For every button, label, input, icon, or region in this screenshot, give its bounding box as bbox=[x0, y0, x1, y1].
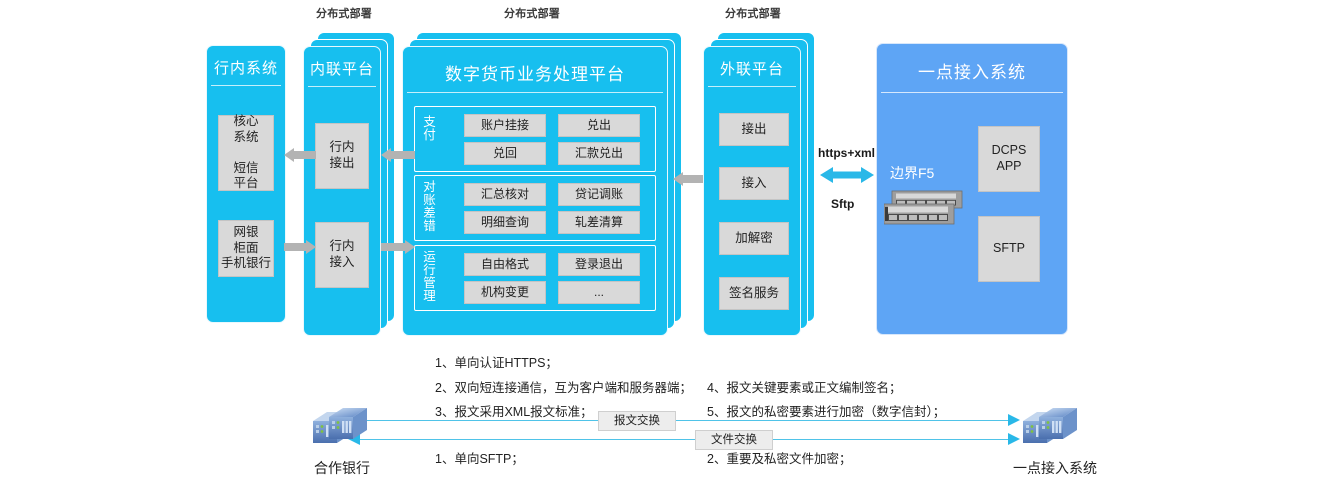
box-exchange-out[interactable]: 兑出 bbox=[558, 114, 640, 137]
box-remittance-out[interactable]: 汇款兑出 bbox=[558, 142, 640, 165]
box-org-change[interactable]: 机构变更 bbox=[464, 281, 546, 304]
protocol-label-sftp: Sftp bbox=[831, 197, 854, 211]
protocol-label-https-xml: https+xml bbox=[818, 146, 875, 160]
box-sftp[interactable]: SFTP bbox=[978, 216, 1040, 282]
f5-switch-icon bbox=[884, 190, 966, 228]
box-intranet-outbound[interactable]: 行内 接出 bbox=[315, 123, 369, 189]
f5-boundary-label: 边界F5 bbox=[890, 163, 934, 183]
box-external-outbound[interactable]: 接出 bbox=[719, 113, 789, 146]
flowline-file-exchange bbox=[355, 439, 1015, 440]
group-label-reconciliation: 对账差错 bbox=[422, 181, 437, 234]
group-label-operations: 运行管理 bbox=[422, 251, 437, 304]
box-encrypt-decrypt[interactable]: 加解密 bbox=[719, 222, 789, 255]
box-netting-settle[interactable]: 轧差清算 bbox=[558, 211, 640, 234]
arrow-ebank-to-intranet bbox=[284, 240, 316, 254]
label-file-exchange: 文件交换 bbox=[695, 430, 773, 450]
arrow-dcep-to-intranet bbox=[381, 148, 415, 162]
box-ebank-counter-mobile[interactable]: 网银 柜面 手机银行 bbox=[218, 220, 274, 277]
box-exchange-back[interactable]: 兑回 bbox=[464, 142, 546, 165]
box-account-link[interactable]: 账户挂接 bbox=[464, 114, 546, 137]
label-message-exchange: 报文交换 bbox=[598, 411, 676, 431]
dist-deploy-label-3: 分布式部署 bbox=[725, 5, 781, 21]
arrow-intranet-to-dcep bbox=[381, 240, 415, 254]
box-intranet-inbound[interactable]: 行内 接入 bbox=[315, 222, 369, 288]
panel-title-intranet: 内联平台 bbox=[304, 58, 380, 79]
note-message-left-2: 2、双向短连接通信，互为客户端和服务器端； bbox=[435, 377, 692, 396]
dist-deploy-label-2: 分布式部署 bbox=[504, 5, 560, 21]
box-external-inbound[interactable]: 接入 bbox=[719, 167, 789, 200]
box-more[interactable]: ... bbox=[558, 281, 640, 304]
box-credit-adjust[interactable]: 贷记调账 bbox=[558, 183, 640, 206]
group-label-payment: 支付 bbox=[422, 116, 437, 142]
flowline-message-exchange bbox=[355, 420, 1015, 421]
note-message-right-5: 5、报文的私密要素进行加密（数字信封）； bbox=[707, 401, 945, 420]
access-system-server-icon bbox=[1015, 405, 1085, 453]
panel-title-intra-bank: 行内系统 bbox=[207, 57, 285, 78]
panel-title-dcep: 数字货币业务处理平台 bbox=[403, 60, 667, 85]
partner-bank-server-icon bbox=[305, 405, 375, 453]
label-partner-bank: 合作银行 bbox=[296, 458, 388, 478]
box-signature-service[interactable]: 签名服务 bbox=[719, 277, 789, 310]
box-core-system-sms[interactable]: 核心 系统 短信 平台 bbox=[218, 115, 274, 191]
label-access-system-bottom: 一点接入系统 bbox=[1000, 458, 1110, 478]
box-login-logout[interactable]: 登录退出 bbox=[558, 253, 640, 276]
note-message-left-3: 3、报文采用XML报文标准； bbox=[435, 401, 593, 420]
diagram-canvas: 分布式部署 分布式部署 分布式部署 行内系统 核心 系统 短信 平台 网银 柜面… bbox=[0, 0, 1333, 483]
note-message-right-4: 4、报文关键要素或正文编制签名； bbox=[707, 377, 901, 396]
box-free-format[interactable]: 自由格式 bbox=[464, 253, 546, 276]
dist-deploy-label-1: 分布式部署 bbox=[316, 5, 372, 21]
panel-title-external: 外联平台 bbox=[704, 58, 800, 79]
box-summary-check[interactable]: 汇总核对 bbox=[464, 183, 546, 206]
panel-intranet-platform: 内联平台 bbox=[303, 46, 381, 336]
note-message-left-1: 1、单向认证HTTPS； bbox=[435, 352, 558, 371]
arrow-intranet-to-core bbox=[284, 148, 316, 162]
box-dcps-app[interactable]: DCPS APP bbox=[978, 126, 1040, 192]
note-file-left-1: 1、单向SFTP； bbox=[435, 448, 524, 467]
panel-title-access-system: 一点接入系统 bbox=[877, 58, 1067, 83]
note-file-right-2: 2、重要及私密文件加密； bbox=[707, 448, 851, 467]
arrow-external-access-bidirectional bbox=[820, 166, 874, 184]
box-detail-query[interactable]: 明细查询 bbox=[464, 211, 546, 234]
